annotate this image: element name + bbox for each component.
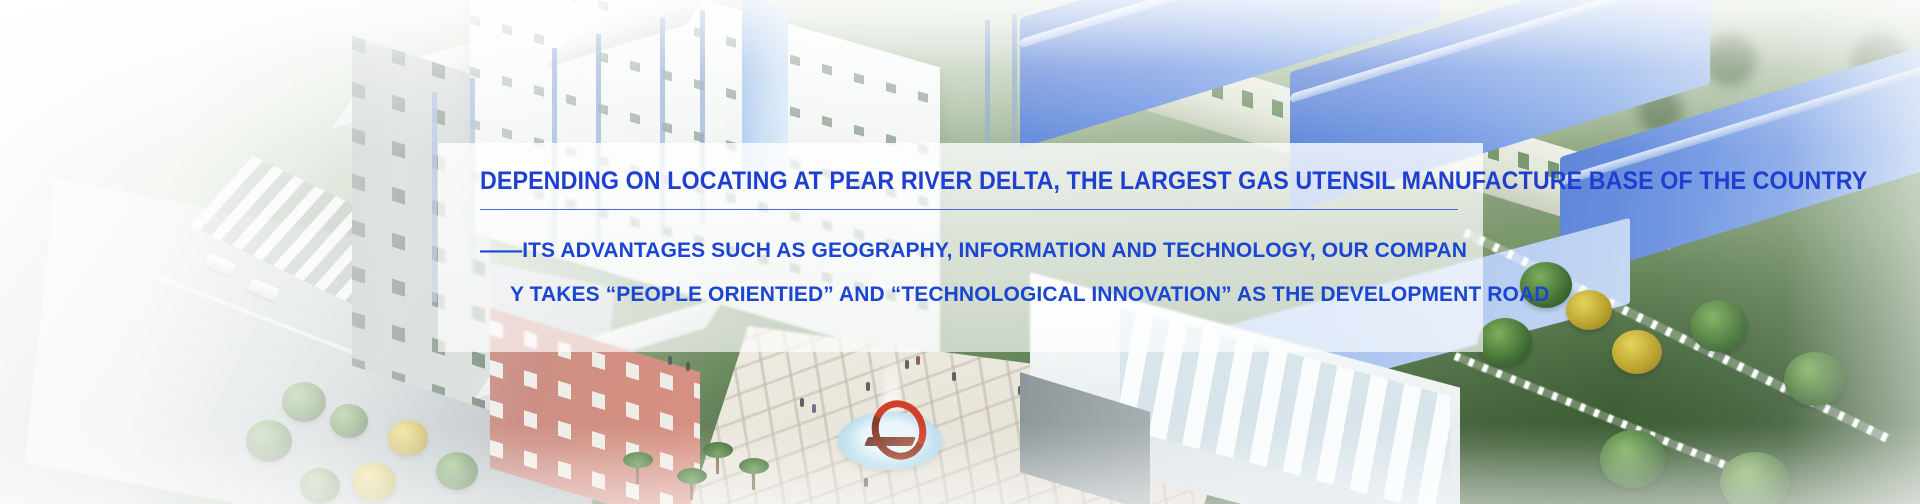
banner-headline: DEPENDING ON LOCATING AT PEAR RIVER DELT… — [480, 169, 1391, 194]
text-overlay-panel: DEPENDING ON LOCATING AT PEAR RIVER DELT… — [438, 143, 1483, 352]
banner-subline-1: ——ITS ADVANTAGES SUCH AS GEOGRAPHY, INFO… — [480, 240, 1467, 261]
company-banner: DEPENDING ON LOCATING AT PEAR RIVER DELT… — [0, 0, 1920, 504]
headline-divider — [480, 209, 1458, 210]
banner-subline-2: Y TAKES “PEOPLE ORIENTIED” AND “TECHNOLO… — [510, 284, 1550, 305]
